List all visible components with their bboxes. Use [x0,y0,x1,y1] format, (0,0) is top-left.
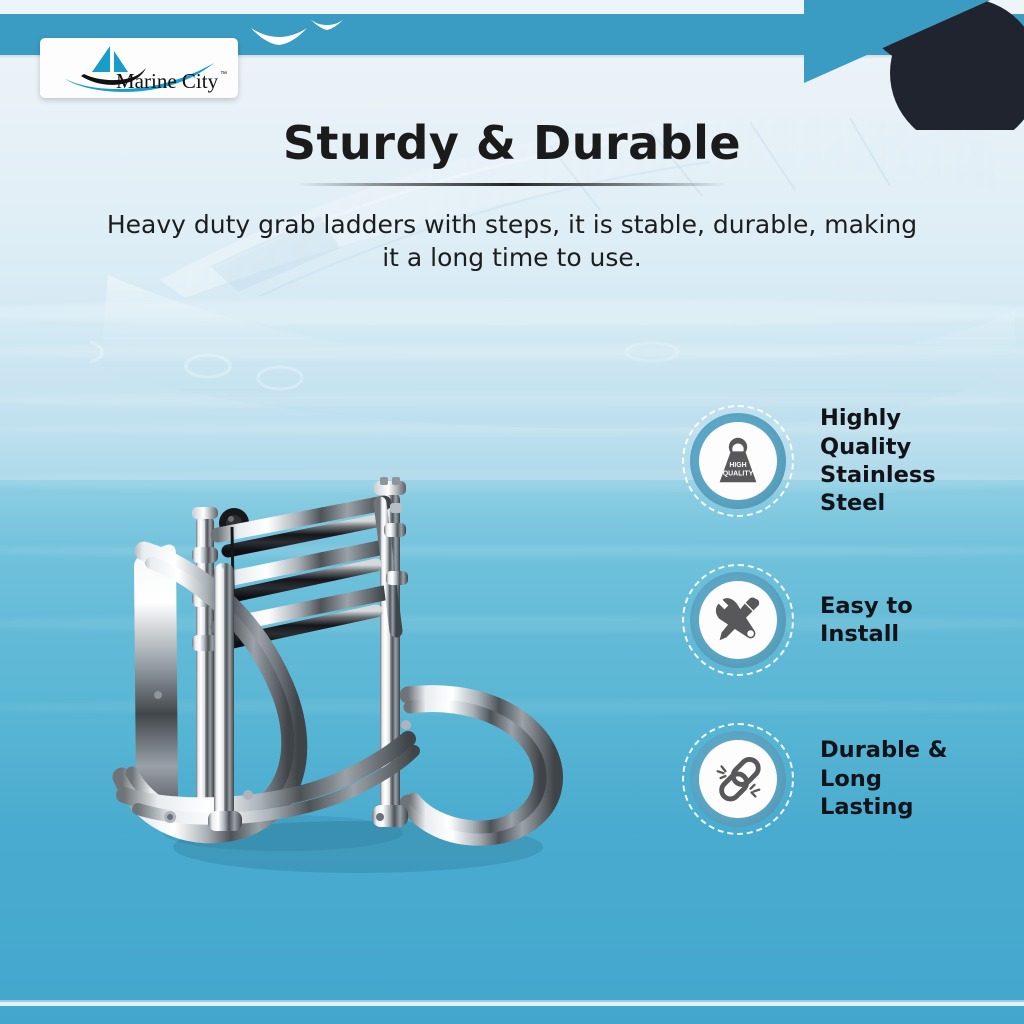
infographic-canvas: Marine City ™ Sturdy & Durable Heavy dut… [0,0,1024,1024]
wave-highlight [0,300,1024,326]
feature-badge: HIGH QUALITY [682,405,794,517]
badge-inner-circle [699,740,777,818]
bottom-border-line-secondary [0,1000,1024,1002]
page-description: Heavy duty grab ladders with steps, it i… [97,208,927,275]
feature-item-easy-install: Easy to Install [682,561,982,679]
brand-logo: Marine City ™ [40,38,238,98]
seagull-icon [310,18,344,32]
weight-icon-label-line2: QUALITY [723,471,754,478]
feature-badge [682,723,794,835]
svg-text:™: ™ [220,71,227,78]
feature-label: Durable & Long Lasting [820,736,982,821]
feature-item-high-quality: HIGH QUALITY Highly Quality Stainless St… [682,402,982,520]
feature-list: HIGH QUALITY Highly Quality Stainless St… [682,402,982,838]
weight-icon-label-line1: HIGH [729,462,746,469]
product-image [108,395,588,885]
svg-text:Marine City: Marine City [116,69,219,93]
page-title: Sturdy & Durable [0,118,1024,169]
sailboat-icon: Marine City ™ [48,42,230,94]
headline-block: Sturdy & Durable Heavy duty grab ladders… [0,118,1024,275]
weight-icon: HIGH QUALITY [709,432,767,490]
feature-badge [682,564,794,676]
feature-item-durable: Durable & Long Lasting [682,720,982,838]
corner-swoosh-decoration [804,0,1024,130]
chain-link-icon [709,750,767,808]
bottom-border-line [0,1002,1024,1006]
feature-label: Easy to Install [820,592,982,649]
badge-inner-circle: HIGH QUALITY [699,422,777,500]
wave-highlight [0,345,1024,359]
feature-label: Highly Quality Stainless Steel [820,404,982,517]
badge-inner-circle [699,581,777,659]
stainless-steel-grab-ladder-illustration [108,395,588,885]
seagull-icon [250,26,308,48]
wrench-screwdriver-icon [709,591,767,649]
title-divider [297,183,727,186]
